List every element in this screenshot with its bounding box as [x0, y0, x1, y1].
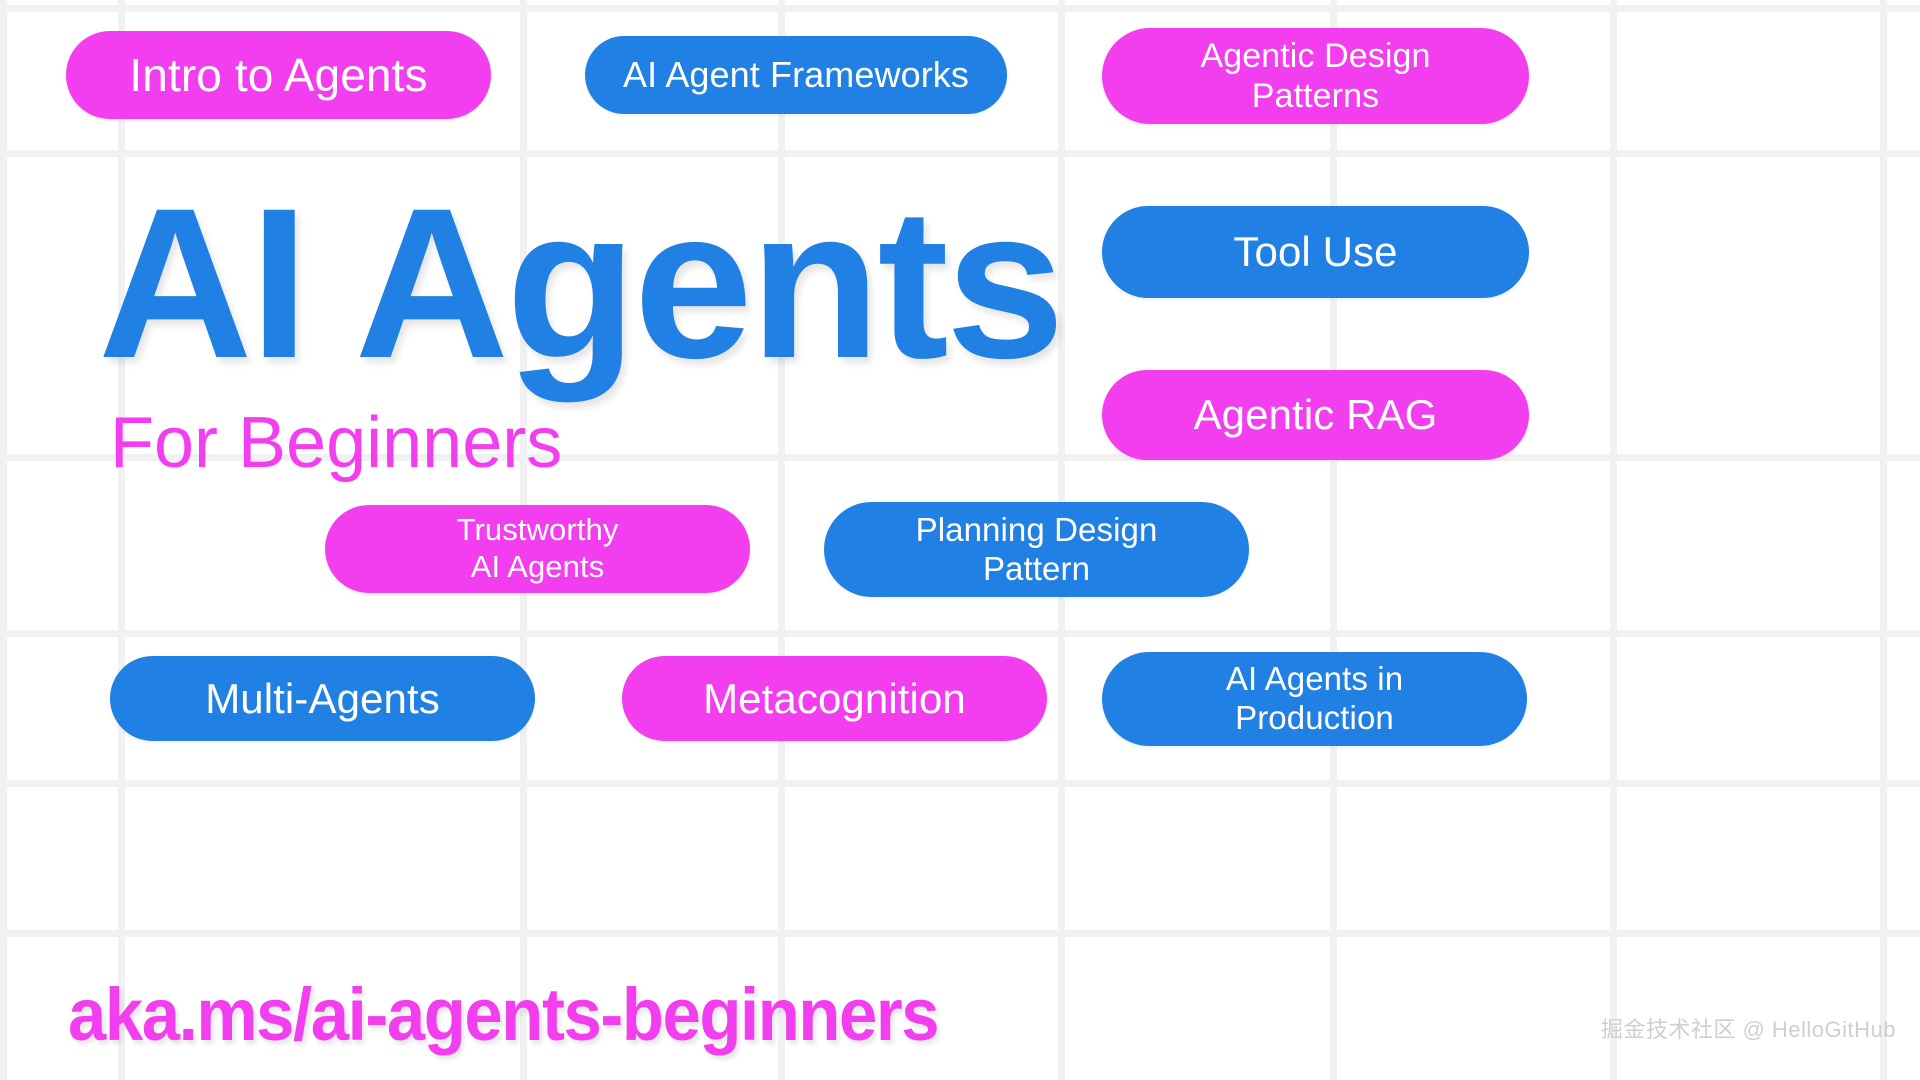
- grid-line-vertical-5: [1330, 0, 1337, 1080]
- course-url[interactable]: aka.ms/ai-agents-beginners: [68, 972, 938, 1057]
- topic-pill-label: Metacognition: [640, 674, 1029, 724]
- watermark: 掘金技术社区 @ HelloGitHub: [1601, 1012, 1896, 1044]
- grid-line-horizontal-1: [0, 150, 1920, 157]
- topic-pill-metacognition[interactable]: Metacognition: [622, 656, 1047, 741]
- grid-line-vertical-1: [118, 0, 125, 1080]
- topic-pill-ai-agent-frameworks[interactable]: AI Agent Frameworks: [585, 36, 1007, 114]
- topic-pill-agentic-rag[interactable]: Agentic RAG: [1102, 370, 1529, 460]
- headline-block: AI Agents For Beginners: [98, 196, 1058, 479]
- grid-line-horizontal-0: [0, 5, 1920, 12]
- poster-canvas: AI Agents For Beginners Intro to AgentsA…: [0, 0, 1920, 1080]
- topic-pill-label: TrustworthyAI Agents: [343, 512, 732, 585]
- page-subtitle: For Beginners: [110, 407, 1058, 479]
- topic-pill-planning-design-pattern[interactable]: Planning DesignPattern: [824, 502, 1249, 597]
- topic-pill-multi-agents[interactable]: Multi-Agents: [110, 656, 535, 741]
- topic-pill-ai-agents-in-production[interactable]: AI Agents inProduction: [1102, 652, 1527, 746]
- topic-pill-tool-use[interactable]: Tool Use: [1102, 206, 1529, 298]
- topic-pill-label: Planning DesignPattern: [842, 511, 1231, 589]
- topic-pill-intro-to-agents[interactable]: Intro to Agents: [66, 31, 491, 119]
- topic-pill-label: Agentic RAG: [1120, 390, 1511, 440]
- grid-line-vertical-7: [1880, 0, 1887, 1080]
- grid-line-horizontal-5: [0, 930, 1920, 937]
- grid-line-vertical-3: [778, 0, 785, 1080]
- topic-pill-label: AI Agent Frameworks: [603, 54, 989, 96]
- topic-pill-label: Tool Use: [1120, 227, 1511, 277]
- topic-pill-trustworthy-ai-agents[interactable]: TrustworthyAI Agents: [325, 505, 750, 593]
- topic-pill-agentic-design-patterns[interactable]: Agentic DesignPatterns: [1102, 28, 1529, 124]
- grid-line-horizontal-4: [0, 780, 1920, 787]
- topic-pill-label: Intro to Agents: [84, 48, 473, 102]
- topic-pill-label: Agentic DesignPatterns: [1120, 36, 1511, 116]
- page-title: AI Agents: [98, 196, 1058, 371]
- grid-line-horizontal-3: [0, 630, 1920, 637]
- topic-pill-label: AI Agents inProduction: [1120, 660, 1509, 738]
- grid-line-vertical-0: [0, 0, 7, 1080]
- topic-pill-label: Multi-Agents: [128, 674, 517, 724]
- grid-line-vertical-6: [1610, 0, 1617, 1080]
